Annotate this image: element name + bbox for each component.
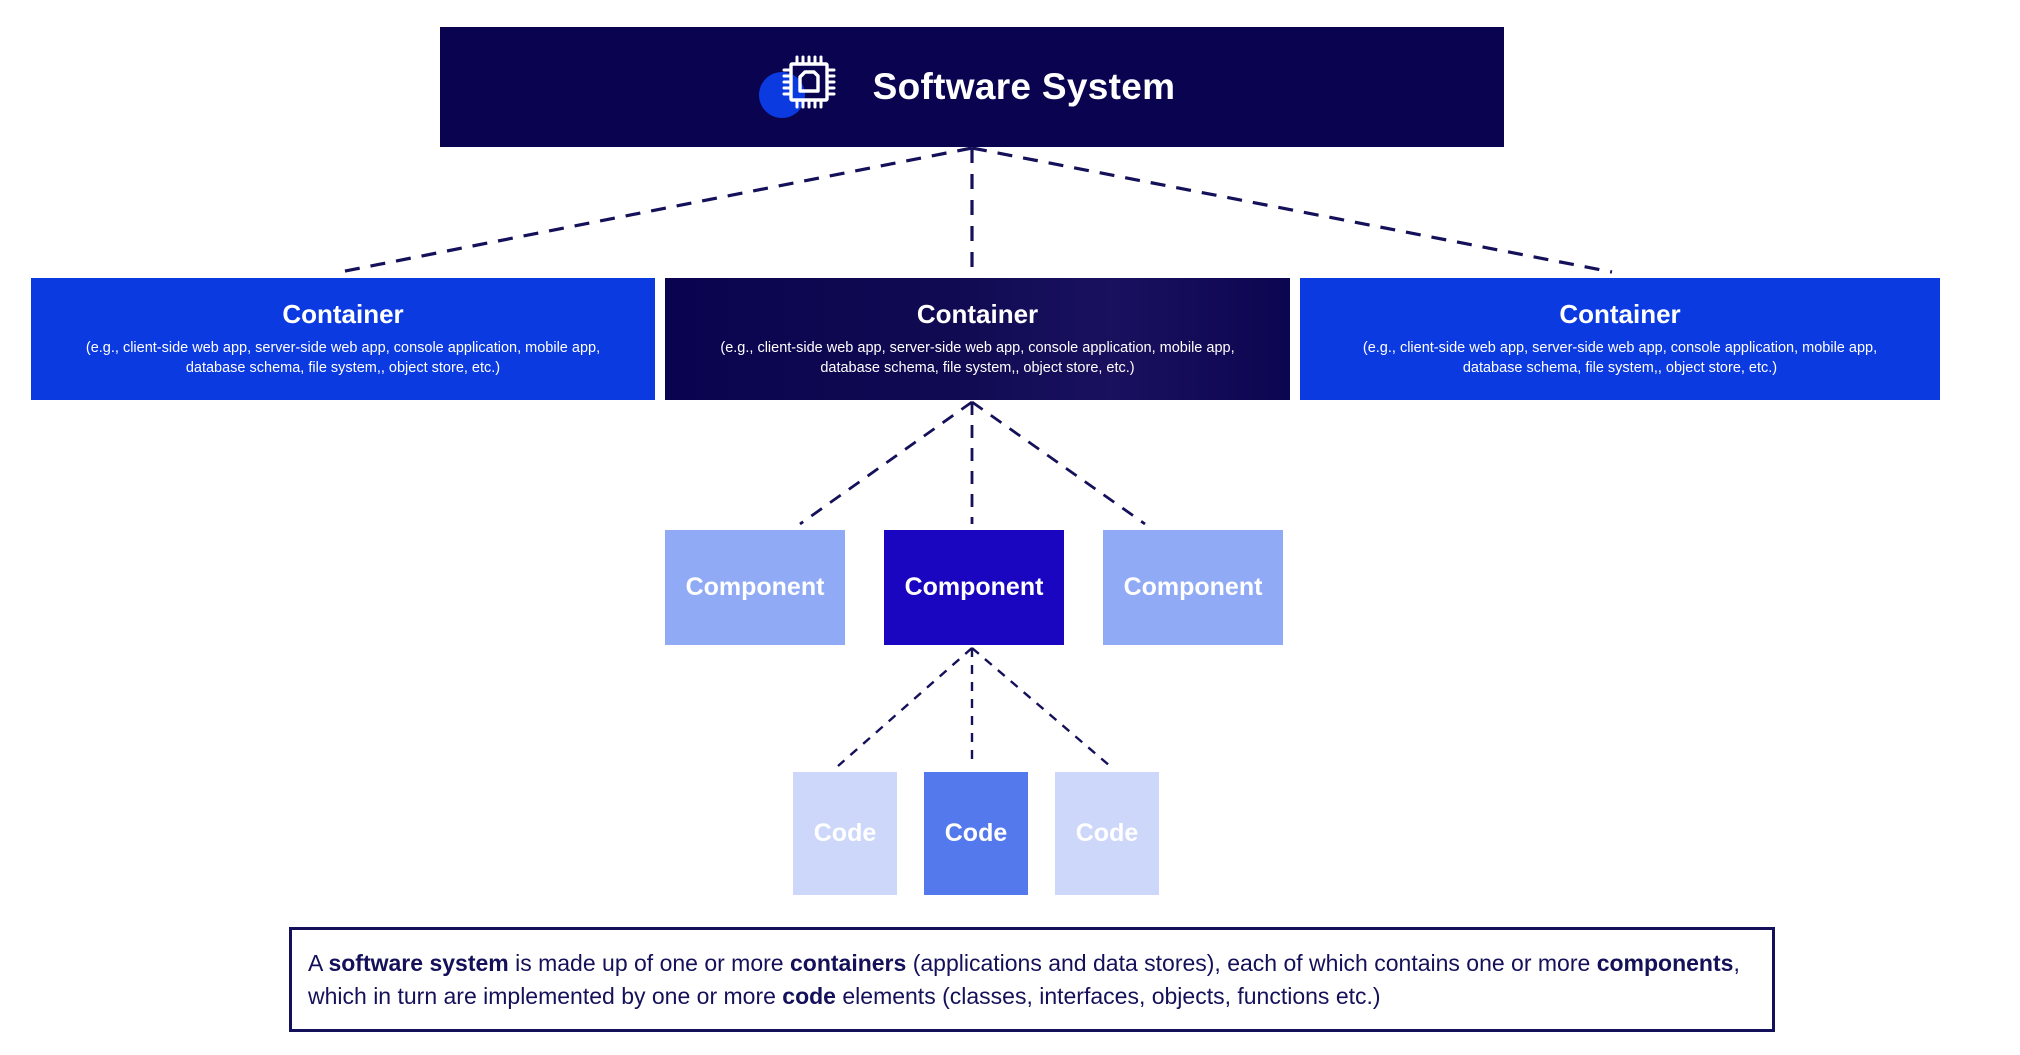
caption-segment-1: software system bbox=[328, 950, 508, 976]
container-middle-subtitle-line1: (e.g., client-side web app, server-side … bbox=[720, 340, 1234, 356]
connector-system-to-container-right bbox=[972, 148, 1612, 272]
connector-system-to-container-left bbox=[340, 148, 972, 272]
component-box-left[interactable]: Component bbox=[665, 530, 845, 645]
connector-lines bbox=[0, 0, 2020, 1055]
container-box-right[interactable]: Container (e.g., client-side web app, se… bbox=[1300, 278, 1940, 400]
component-middle-title: Component bbox=[905, 573, 1044, 602]
connector-container-to-component-left bbox=[800, 402, 972, 524]
container-right-subtitle-line1: (e.g., client-side web app, server-side … bbox=[1363, 340, 1877, 356]
container-box-left[interactable]: Container (e.g., client-side web app, se… bbox=[31, 278, 655, 400]
container-middle-subtitle: (e.g., client-side web app, server-side … bbox=[720, 338, 1234, 378]
component-box-middle[interactable]: Component bbox=[884, 530, 1064, 645]
container-left-title: Container bbox=[282, 300, 403, 329]
container-middle-title: Container bbox=[917, 300, 1038, 329]
code-box-left[interactable]: Code bbox=[793, 772, 897, 895]
code-right-title: Code bbox=[1076, 819, 1139, 848]
caption-segment-5: components bbox=[1597, 950, 1734, 976]
software-system-title: Software System bbox=[873, 66, 1176, 108]
c4-model-diagram: Software System Container (e.g., client-… bbox=[0, 0, 2020, 1055]
caption-segment-7: code bbox=[782, 983, 836, 1009]
caption-segment-0: A bbox=[308, 950, 328, 976]
caption-segment-4: (applications and data stores), each of … bbox=[906, 950, 1596, 976]
code-left-title: Code bbox=[814, 819, 877, 848]
code-box-middle[interactable]: Code bbox=[924, 772, 1028, 895]
caption-segment-3: containers bbox=[790, 950, 906, 976]
container-right-subtitle: (e.g., client-side web app, server-side … bbox=[1363, 338, 1877, 378]
code-middle-title: Code bbox=[945, 819, 1008, 848]
component-box-right[interactable]: Component bbox=[1103, 530, 1283, 645]
container-right-title: Container bbox=[1559, 300, 1680, 329]
container-left-subtitle: (e.g., client-side web app, server-side … bbox=[86, 338, 600, 378]
container-middle-subtitle-line2: database schema, file system,, object st… bbox=[820, 360, 1134, 376]
component-left-title: Component bbox=[686, 573, 825, 602]
container-left-subtitle-line2: database schema, file system,, object st… bbox=[186, 360, 500, 376]
connector-component-to-code-left bbox=[838, 648, 972, 766]
caption-segment-2: is made up of one or more bbox=[509, 950, 790, 976]
container-left-subtitle-line1: (e.g., client-side web app, server-side … bbox=[86, 340, 600, 356]
container-right-subtitle-line2: database schema, file system,, object st… bbox=[1463, 360, 1777, 376]
connector-container-to-component-right bbox=[972, 402, 1145, 524]
caption-box: A software system is made up of one or m… bbox=[289, 927, 1775, 1032]
software-system-bar[interactable]: Software System bbox=[440, 27, 1504, 147]
caption-segment-8: elements (classes, interfaces, objects, … bbox=[836, 983, 1381, 1009]
container-box-middle[interactable]: Container (e.g., client-side web app, se… bbox=[665, 278, 1290, 400]
connector-component-to-code-right bbox=[972, 648, 1110, 766]
caption-text: A software system is made up of one or m… bbox=[292, 947, 1772, 1012]
component-right-title: Component bbox=[1124, 573, 1263, 602]
code-box-right[interactable]: Code bbox=[1055, 772, 1159, 895]
chip-icon bbox=[769, 50, 843, 124]
